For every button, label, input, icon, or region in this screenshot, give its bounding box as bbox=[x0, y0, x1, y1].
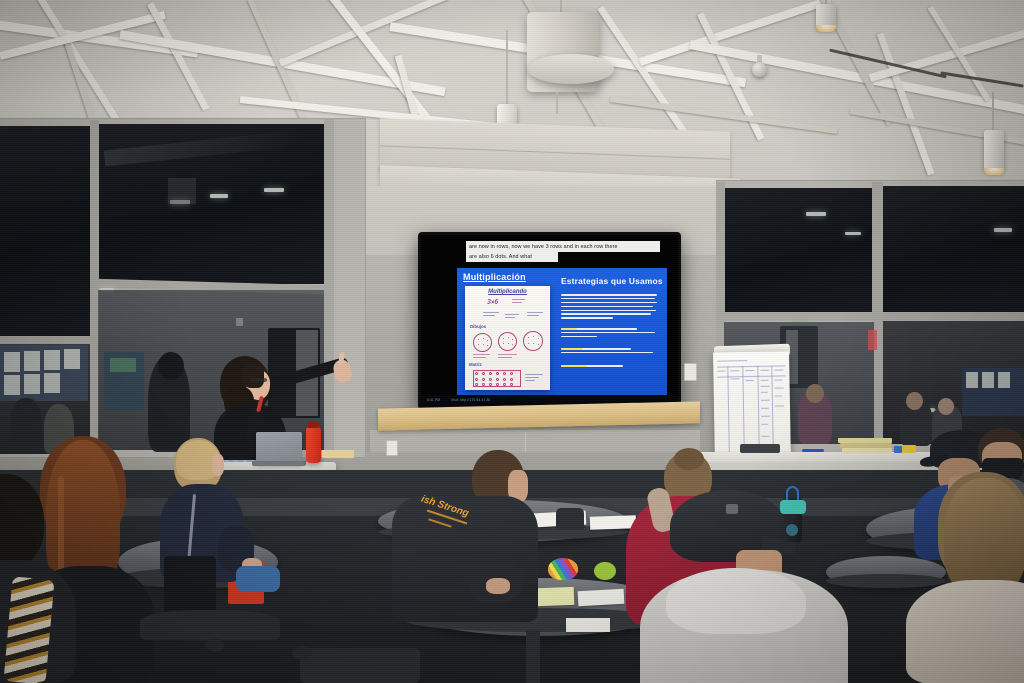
posted-paper bbox=[24, 351, 40, 371]
flipchart-note bbox=[775, 387, 784, 388]
flipchart-note bbox=[730, 378, 739, 379]
laptop-screen[interactable] bbox=[256, 432, 302, 464]
posted-paper bbox=[998, 372, 1010, 388]
chair[interactable] bbox=[140, 610, 280, 640]
pendant-light-glow bbox=[816, 25, 836, 32]
stacked-books bbox=[842, 448, 892, 453]
slide-left-title: Multiplicación bbox=[463, 272, 526, 282]
blue-marker[interactable] bbox=[802, 449, 824, 452]
flipchart-note bbox=[761, 400, 770, 401]
slide-right-title: Estrategias que Usamos bbox=[561, 276, 663, 286]
tie-dye-fidget[interactable] bbox=[548, 558, 578, 580]
presenter-glasses bbox=[251, 378, 267, 382]
bottle-sleeve bbox=[780, 500, 806, 514]
poster-section-matriz: Matriz bbox=[469, 362, 482, 367]
distant-ceiling-light bbox=[845, 232, 861, 235]
chair[interactable] bbox=[300, 648, 420, 683]
posted-paper bbox=[4, 375, 20, 395]
posted-paper bbox=[44, 373, 60, 393]
poster-annotation bbox=[505, 314, 519, 315]
window-glass-upper bbox=[724, 188, 874, 316]
pendant-light-rod bbox=[506, 30, 508, 108]
distant-wall-panel bbox=[168, 178, 196, 204]
blue-sticky-pad bbox=[894, 446, 902, 453]
posted-paper bbox=[982, 372, 994, 388]
handout-paper bbox=[566, 618, 610, 632]
slide-paragraph bbox=[561, 294, 657, 319]
flipchart-note bbox=[761, 392, 768, 393]
dot-group-circle bbox=[473, 333, 492, 352]
water-bottle[interactable] bbox=[306, 427, 321, 463]
flipchart-rule bbox=[717, 360, 747, 362]
security-camera-icon bbox=[752, 62, 767, 77]
flipchart-note bbox=[730, 370, 739, 371]
poster-annotation bbox=[512, 299, 525, 300]
handbag bbox=[164, 556, 216, 618]
flipchart-note bbox=[717, 370, 725, 371]
flipchart-column bbox=[727, 366, 730, 460]
flipchart-note bbox=[746, 380, 754, 381]
flipchart-note bbox=[774, 369, 783, 370]
table-caster bbox=[206, 638, 224, 652]
screen-clock: 5:41 PM bbox=[427, 398, 440, 402]
flipchart-note bbox=[775, 405, 784, 406]
flipchart-note bbox=[761, 386, 770, 387]
array-grid bbox=[473, 370, 521, 387]
far-person-head bbox=[158, 352, 184, 380]
pendant-light-rod bbox=[992, 92, 994, 134]
flipchart-note bbox=[762, 436, 770, 437]
chair[interactable] bbox=[556, 508, 584, 530]
poster-array-note bbox=[525, 380, 535, 381]
presentation-screen[interactable]: are now in rows, now we have 3 rows and … bbox=[418, 232, 681, 410]
poster-array-note bbox=[525, 377, 539, 378]
light-switch-plate[interactable] bbox=[386, 440, 398, 456]
flipchart-note bbox=[775, 379, 783, 380]
hood bbox=[666, 568, 806, 634]
poster-group-note bbox=[498, 354, 517, 355]
poster-annotation bbox=[512, 302, 522, 303]
poster-annotation bbox=[527, 315, 539, 316]
cap-logo bbox=[726, 504, 738, 514]
distant-ceiling-light bbox=[806, 212, 826, 216]
poster-section-dibujos: Dibujos bbox=[470, 324, 486, 329]
table-leg bbox=[526, 630, 540, 683]
torso-cream-top bbox=[906, 580, 1024, 683]
window-glass-upper bbox=[882, 186, 1024, 314]
table-caster bbox=[292, 646, 312, 660]
handout-paper bbox=[590, 515, 636, 530]
slide-strategy-matriz bbox=[561, 348, 657, 353]
bottle-logo bbox=[786, 524, 798, 536]
distant-ceiling-light bbox=[994, 228, 1012, 232]
acoustic-baffle-disc bbox=[528, 54, 614, 84]
patterned-scarf bbox=[4, 576, 55, 683]
screen-content: are now in rows, now we have 3 rows and … bbox=[421, 235, 678, 407]
presenter-hair-front bbox=[242, 362, 264, 388]
posted-paper bbox=[966, 372, 978, 388]
poster-group-note bbox=[498, 357, 512, 358]
far-poster bbox=[868, 330, 877, 350]
window-mullion bbox=[0, 336, 92, 344]
window-mullion bbox=[716, 312, 1024, 321]
leg-jeans bbox=[236, 566, 280, 592]
slide: Multiplicación Multiplicando 3×6 Dibujos bbox=[457, 268, 667, 395]
far-wall-plate bbox=[236, 318, 243, 326]
hair-bun bbox=[674, 448, 704, 470]
flipchart-note bbox=[761, 416, 770, 417]
poster-annotation bbox=[505, 317, 515, 318]
baffle-rod bbox=[556, 92, 558, 114]
classroom-photo: are now in rows, now we have 3 rows and … bbox=[0, 0, 1024, 683]
flipchart-note bbox=[761, 380, 769, 381]
window-glass-upper bbox=[0, 126, 90, 338]
distant-ceiling-light bbox=[210, 194, 228, 198]
pendant-light bbox=[984, 130, 1004, 172]
dot-group-circle bbox=[498, 332, 517, 351]
poster-equation: 3×6 bbox=[487, 299, 498, 306]
flipchart-note bbox=[761, 424, 768, 425]
dark-device-on-ledge bbox=[740, 444, 780, 453]
podium-papers bbox=[322, 450, 354, 458]
slide-strategy-dibujos bbox=[561, 328, 657, 337]
bottle-strap bbox=[786, 486, 799, 500]
slide-strategy-contar bbox=[561, 365, 657, 367]
far-person-silhouette bbox=[10, 398, 42, 454]
handwritten-poster: Multiplicando 3×6 Dibujos bbox=[465, 286, 550, 390]
hand bbox=[486, 578, 510, 594]
wall-plate[interactable] bbox=[684, 363, 697, 381]
hair-sheen bbox=[944, 478, 1024, 594]
poster-annotation bbox=[527, 312, 543, 313]
far-person-head bbox=[806, 384, 824, 403]
flipchart-note bbox=[761, 408, 769, 409]
far-person-head bbox=[906, 392, 923, 410]
face bbox=[212, 454, 224, 476]
poster-annotation bbox=[483, 312, 499, 313]
dot-group-circle bbox=[523, 331, 543, 351]
caption-line-2: are also 6 dots. And what bbox=[466, 251, 558, 262]
table-edge bbox=[826, 574, 946, 588]
far-person-head bbox=[938, 398, 954, 415]
posted-paper bbox=[4, 352, 20, 372]
flipchart-note bbox=[775, 395, 782, 396]
poster-array-note bbox=[525, 374, 543, 375]
screen-link: Visit: http://170.64.47.80 bbox=[451, 398, 491, 402]
water-bottle-cap bbox=[308, 421, 319, 428]
posted-paper bbox=[24, 374, 40, 394]
laptop-base[interactable] bbox=[252, 461, 306, 466]
poster-heading: Multiplicando bbox=[465, 289, 550, 295]
far-cart-panel bbox=[110, 358, 136, 372]
posted-paper bbox=[44, 350, 60, 370]
handout-paper bbox=[578, 589, 625, 606]
poster-group-note bbox=[473, 354, 490, 355]
posted-paper bbox=[64, 349, 80, 369]
flipchart-note bbox=[745, 370, 754, 371]
flipchart-note bbox=[760, 370, 769, 371]
poster-annotation bbox=[483, 315, 495, 316]
poster-group-note bbox=[473, 357, 486, 358]
distant-ceiling-light bbox=[264, 188, 284, 192]
pendant-light-glow bbox=[984, 168, 1004, 175]
green-ball bbox=[594, 562, 616, 580]
